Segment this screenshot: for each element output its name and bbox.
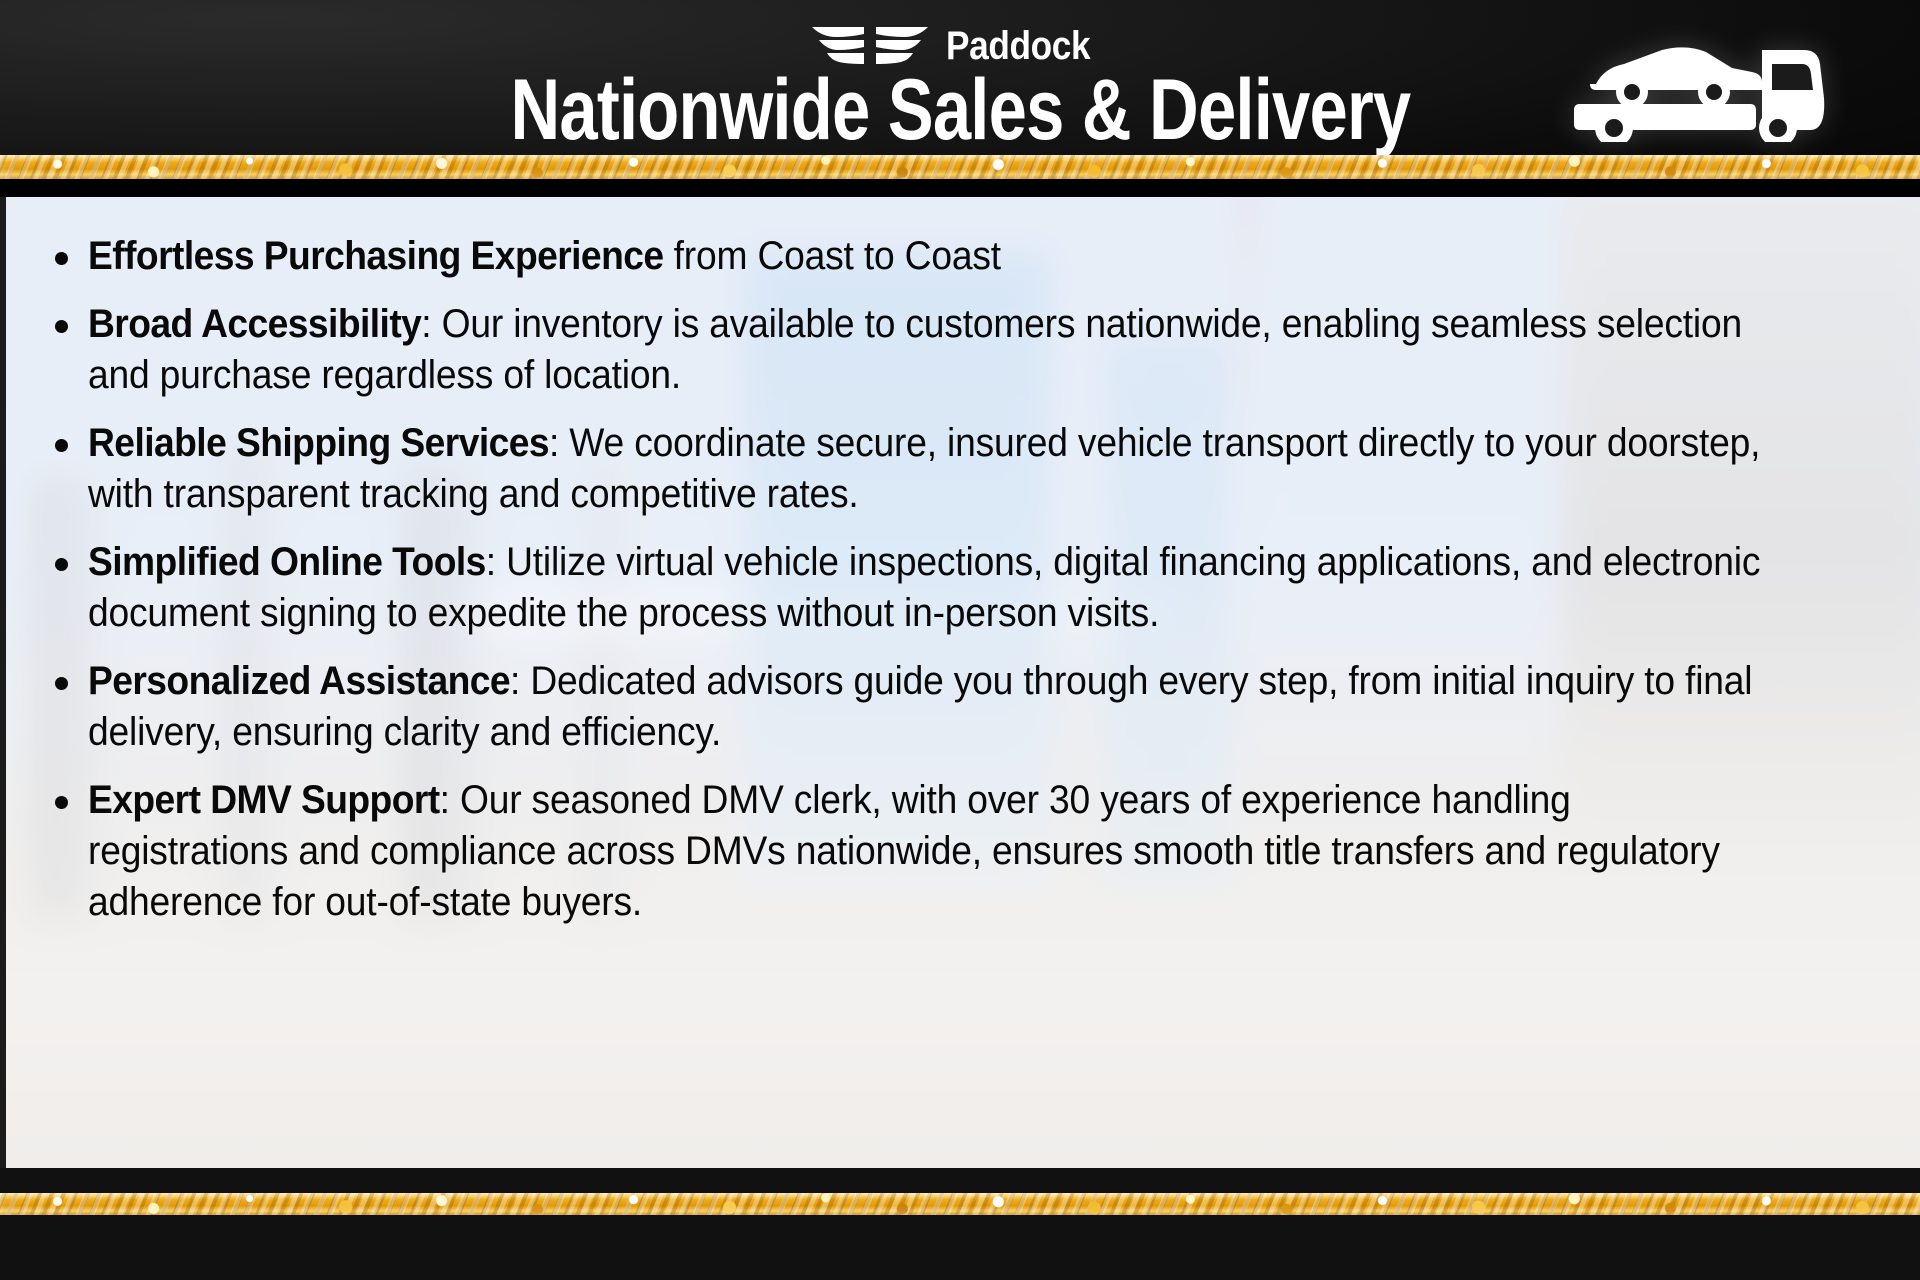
brand-name: Paddock: [946, 26, 1090, 66]
bullet-lead: Personalized Assistance: [88, 659, 510, 703]
page-title-text: Nationwide Sales & Delivery: [510, 62, 1410, 158]
footer-black-strip-lower: [0, 1215, 1920, 1280]
bullet-lead: Broad Accessibility: [88, 302, 421, 346]
list-item: Personalized Assistance: Dedicated advis…: [36, 656, 1894, 758]
list-item: Reliable Shipping Services: We coordinat…: [36, 418, 1894, 520]
bullet-lead: Expert DMV Support: [88, 778, 440, 822]
footer-black-strip-upper: [0, 1168, 1920, 1193]
content-panel: Effortless Purchasing Experience from Co…: [0, 197, 1920, 1168]
list-item: Broad Accessibility: Our inventory is av…: [36, 299, 1894, 401]
gold-glitter-divider-bottom: [0, 1193, 1920, 1215]
bullet-lead: Reliable Shipping Services: [88, 421, 549, 465]
gold-glitter-divider-top: [0, 155, 1920, 179]
bullet-rest: from Coast to Coast: [663, 234, 1000, 278]
car-carrier-tow-truck-icon: [1566, 24, 1836, 147]
header-black-strip: [0, 179, 1920, 197]
slide-header: Paddock Nationwide Sales & Delivery: [0, 0, 1920, 180]
list-item: Effortless Purchasing Experience from Co…: [36, 231, 1894, 282]
bullet-lead: Effortless Purchasing Experience: [88, 234, 663, 278]
list-item: Simplified Online Tools: Utilize virtual…: [36, 537, 1894, 639]
bullet-lead: Simplified Online Tools: [88, 540, 486, 584]
list-item: Expert DMV Support: Our seasoned DMV cle…: [36, 775, 1894, 928]
feature-bullet-list: Effortless Purchasing Experience from Co…: [36, 231, 1894, 945]
